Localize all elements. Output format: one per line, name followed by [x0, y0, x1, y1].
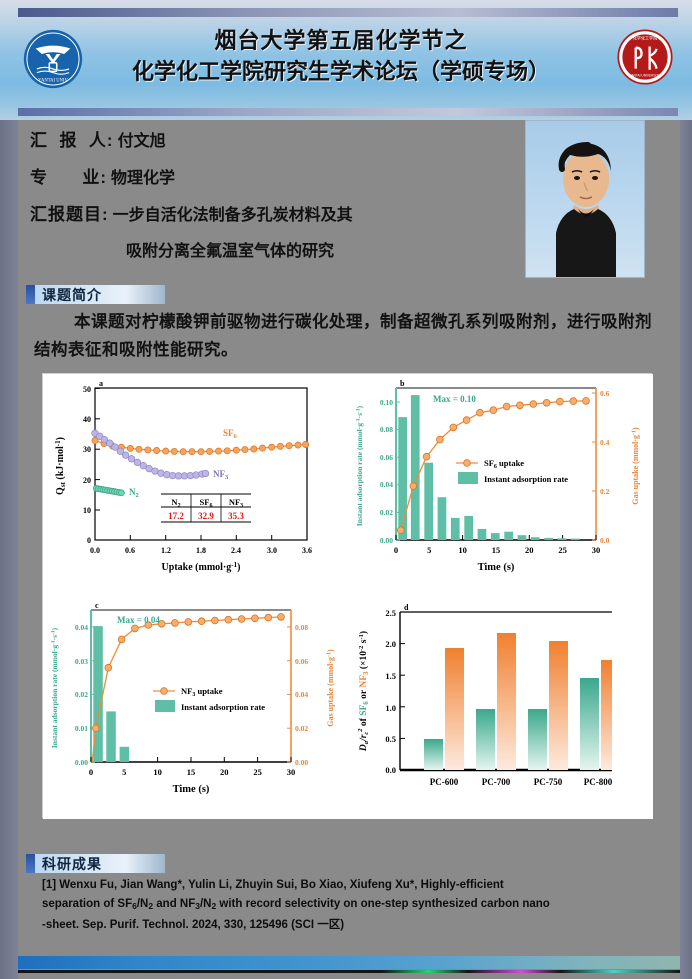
svg-text:20: 20 — [220, 767, 229, 777]
chart-d-diffusion-coefficients: d 0.0 0.5 1.0 1.5 2.0 2.5 Da/rc2 of SF6 … — [348, 596, 653, 819]
svg-text:1.5: 1.5 — [385, 671, 396, 681]
svg-text:0.02: 0.02 — [380, 508, 393, 517]
intro-paragraph: 本课题对柠檬酸钾前驱物进行碳化处理，制备超微孔系列吸附剂，进行吸附剂结构表征和吸… — [34, 308, 664, 364]
speaker-name: 付文旭 — [118, 127, 166, 151]
ref-seg-c: and NF — [153, 898, 195, 910]
chart-d-svg: d 0.0 0.5 1.0 1.5 2.0 2.5 Da/rc2 of SF6 … — [348, 596, 653, 819]
svg-text:1.2: 1.2 — [161, 546, 171, 555]
topic-line2: 吸附分离全氟温室气体的研究 — [126, 237, 510, 261]
svg-text:15: 15 — [187, 767, 196, 777]
svg-text:PC-700: PC-700 — [482, 777, 511, 787]
svg-text:25: 25 — [253, 767, 262, 777]
chart-d-xticks: PC-600 PC-700 PC-750 PC-800 — [430, 777, 613, 787]
header-banner: YANTAI UNIV 烟台大学第五届化学节之 化学化工学院研究生学术论坛（学硕… — [0, 0, 692, 120]
chart-d-bar-nf3-pc700 — [497, 633, 516, 770]
ref-seg-b: /N — [137, 898, 149, 910]
svg-text:0.04: 0.04 — [75, 623, 88, 632]
svg-text:0.01: 0.01 — [75, 724, 88, 733]
banner-title: 烟台大学第五届化学节之 化学化工学院研究生学术论坛（学硕专场） — [96, 26, 586, 88]
chart-d-bar-sf6-pc700 — [476, 709, 495, 770]
section-header-intro: 课题简介 — [26, 285, 102, 304]
intro-text: 本课题对柠檬酸钾前驱物进行碳化处理，制备超微孔系列吸附剂，进行吸附剂结构表征和吸… — [34, 313, 652, 359]
svg-text:YANTAI UNIVERSITY: YANTAI UNIVERSITY — [630, 74, 662, 78]
svg-text:2.5: 2.5 — [385, 608, 396, 618]
reference-list: [1] Wenxu Fu, Jian Wang*, Yulin Li, Zhuy… — [42, 876, 657, 935]
section-header-results-label: 科研成果 — [26, 854, 102, 874]
chart-a-panel-label: a — [99, 379, 103, 388]
chart-a-xlabel: Uptake (mmol·g-1) — [162, 561, 241, 573]
footer-gradient-bar — [18, 956, 680, 969]
svg-text:40: 40 — [83, 415, 91, 424]
svg-text:0.6: 0.6 — [125, 546, 135, 555]
svg-text:30: 30 — [83, 445, 91, 454]
chart-b-sf6-kinetics: b 0.00 0.02 0.04 0.06 0.08 0.10 0.0 0.2 … — [348, 374, 653, 596]
chart-b-legend-bar-label: Instant adsorption rate — [484, 474, 568, 484]
presenter-speaker-row: 汇 报 人: 付文旭 — [30, 126, 510, 151]
presenter-photo — [525, 120, 645, 278]
chart-c-ylabel-left: Instant adsorption rate (mmol·g-1·s-1) — [50, 627, 59, 748]
chart-b-panel-label: b — [400, 379, 405, 388]
yantai-university-logo: YANTAI UNIV — [22, 28, 84, 90]
svg-text:0.00: 0.00 — [380, 536, 393, 545]
ref-seg-d: /N — [200, 898, 212, 910]
major-label: 专 业: — [30, 163, 107, 188]
major-value: 物理化学 — [111, 164, 175, 188]
svg-text:0.00: 0.00 — [75, 758, 88, 767]
chart-c-ylabel-right: Gas uptake (mmol·g-1) — [326, 649, 335, 727]
chart-d-bar-sf6-pc800 — [580, 678, 599, 770]
svg-text:30: 30 — [592, 545, 601, 555]
chart-a-svg: a 0 10 20 30 40 50 0.0 0.6 1.2 — [43, 374, 348, 596]
svg-text:0.10: 0.10 — [380, 398, 393, 407]
svg-text:2.0: 2.0 — [385, 639, 396, 649]
svg-text:YANTAI UNIV: YANTAI UNIV — [38, 78, 68, 83]
svg-text:0: 0 — [394, 545, 398, 555]
svg-text:0.06: 0.06 — [295, 657, 308, 666]
svg-text:0.4: 0.4 — [600, 438, 610, 447]
svg-text:5: 5 — [122, 767, 126, 777]
svg-text:0.04: 0.04 — [380, 480, 393, 489]
banner-bottom-stripe — [18, 108, 678, 116]
chart-a-table-value-nf3: 35.3 — [228, 511, 244, 521]
svg-text:25: 25 — [558, 545, 567, 555]
poster-left-edge — [0, 0, 18, 979]
chart-a-qst-vs-uptake: a 0 10 20 30 40 50 0.0 0.6 1.2 — [43, 374, 348, 596]
chart-b-svg: b 0.00 0.02 0.04 0.06 0.08 0.10 0.0 0.2 … — [348, 374, 653, 596]
chart-d-bar-sf6-pc750 — [528, 709, 547, 770]
svg-text:PC-800: PC-800 — [584, 777, 613, 787]
chemistry-college-logo: 化学化工学院 YANTAI UNIVERSITY — [616, 28, 674, 86]
svg-text:0.2: 0.2 — [600, 487, 610, 496]
poster-root: YANTAI UNIV 烟台大学第五届化学节之 化学化工学院研究生学术论坛（学硕… — [0, 0, 692, 979]
chart-b-ylabel-left: Instant adsorption rate (mmol·g-1·s-1) — [355, 405, 364, 526]
chart-d-bar-sf6-pc600 — [424, 739, 443, 770]
svg-text:0.0: 0.0 — [600, 536, 610, 545]
svg-text:10: 10 — [153, 767, 162, 777]
svg-text:化学化工学院: 化学化工学院 — [633, 35, 657, 41]
figure-panel: a 0 10 20 30 40 50 0.0 0.6 1.2 — [42, 373, 652, 818]
svg-text:PC-600: PC-600 — [430, 777, 459, 787]
banner-title-line2: 化学化工学院研究生学术论坛（学硕专场） — [96, 56, 586, 88]
svg-text:15: 15 — [492, 545, 501, 555]
presenter-major-row: 专 业: 物理化学 — [30, 163, 510, 188]
svg-text:0.06: 0.06 — [380, 453, 393, 462]
svg-text:0.0: 0.0 — [90, 546, 100, 555]
chart-a-ylabel: Qst (kJ·mol-1) — [54, 437, 67, 495]
topic-line1: 一步自活化法制备多孔炭材料及其 — [113, 201, 353, 225]
svg-text:0.5: 0.5 — [385, 734, 396, 744]
svg-text:1.8: 1.8 — [196, 546, 206, 555]
chart-a-table-value-sf6: 32.9 — [198, 511, 214, 521]
svg-text:0.6: 0.6 — [600, 389, 610, 398]
svg-text:0.02: 0.02 — [295, 724, 308, 733]
svg-text:0.08: 0.08 — [380, 425, 393, 434]
chart-c-xlabel: Time (s) — [173, 784, 210, 795]
svg-text:20: 20 — [525, 545, 534, 555]
chart-d-bar-nf3-pc800 — [601, 660, 612, 770]
chart-b-ylabel-right: Gas uptake (mmol·g-1) — [631, 427, 640, 505]
presenter-info: 汇 报 人: 付文旭 专 业: 物理化学 汇报题目: 一步自活化法制备多孔炭材料… — [30, 126, 510, 261]
svg-text:0.0: 0.0 — [385, 765, 396, 775]
svg-text:0: 0 — [89, 767, 93, 777]
ref-seg-e: with record selectivity on one-step synt… — [216, 898, 550, 910]
speaker-label: 汇 报 人: — [30, 126, 114, 151]
svg-text:5: 5 — [427, 545, 431, 555]
svg-text:PC-750: PC-750 — [534, 777, 563, 787]
chart-b-xlabel: Time (s) — [478, 562, 515, 573]
svg-text:3.6: 3.6 — [302, 546, 312, 555]
chart-b-annotation: Max = 0.10 — [433, 394, 476, 404]
svg-text:0.08: 0.08 — [295, 623, 308, 632]
svg-text:3.0: 3.0 — [267, 546, 277, 555]
chart-c-panel-label: c — [95, 601, 99, 610]
svg-text:50: 50 — [83, 385, 91, 394]
chart-d-bar-nf3-pc750 — [549, 641, 568, 770]
portrait-figure — [526, 121, 645, 278]
reference-line-3: -sheet. Sep. Purif. Technol. 2024, 330, … — [42, 916, 657, 935]
reference-line-1: [1] Wenxu Fu, Jian Wang*, Yulin Li, Zhuy… — [42, 876, 657, 895]
svg-text:10: 10 — [83, 506, 91, 515]
svg-text:0: 0 — [87, 536, 91, 545]
svg-text:20: 20 — [83, 476, 91, 485]
chart-c-legend-bar-label: Instant adsorption rate — [181, 702, 265, 712]
chart-c-svg: c 0.00 0.01 0.02 0.03 0.04 0.00 0.02 0.0… — [43, 596, 348, 819]
section-header-intro-label: 课题简介 — [26, 285, 102, 305]
poster-right-edge — [680, 0, 692, 979]
banner-title-line1: 烟台大学第五届化学节之 — [96, 26, 586, 56]
svg-text:10: 10 — [458, 545, 467, 555]
chart-d-panel-label: d — [404, 603, 409, 612]
chart-d-bar-nf3-pc600 — [445, 648, 464, 770]
ref-seg-a: separation of SF — [42, 898, 132, 910]
svg-text:0.04: 0.04 — [295, 690, 308, 699]
chart-a-plot-area: a 0 10 20 30 40 50 0.0 0.6 1.2 — [54, 379, 312, 573]
chart-d-ylabel: Da/rc2 of SF6 or NF3 (×10-2 s-1) — [357, 631, 370, 752]
svg-text:30: 30 — [287, 767, 296, 777]
svg-text:0.03: 0.03 — [75, 657, 88, 666]
section-header-results: 科研成果 — [26, 854, 102, 873]
banner-top-stripe — [18, 8, 678, 17]
chart-c-annotation: Max = 0.04 — [117, 615, 160, 625]
svg-text:0.02: 0.02 — [75, 690, 88, 699]
svg-text:1.0: 1.0 — [385, 703, 396, 713]
chart-c-nf3-kinetics: c 0.00 0.01 0.02 0.03 0.04 0.00 0.02 0.0… — [43, 596, 348, 819]
svg-text:0.00: 0.00 — [295, 758, 308, 767]
reference-line-2: separation of SF6/N2 and NF3/N2 with rec… — [42, 895, 657, 916]
presenter-topic-row: 汇报题目: 一步自活化法制备多孔炭材料及其 — [30, 200, 510, 225]
chart-a-table-value-n2: 17.2 — [168, 511, 184, 521]
topic-label: 汇报题目: — [30, 200, 109, 225]
footer-speckle-bar — [18, 970, 680, 973]
svg-text:2.4: 2.4 — [231, 546, 241, 555]
